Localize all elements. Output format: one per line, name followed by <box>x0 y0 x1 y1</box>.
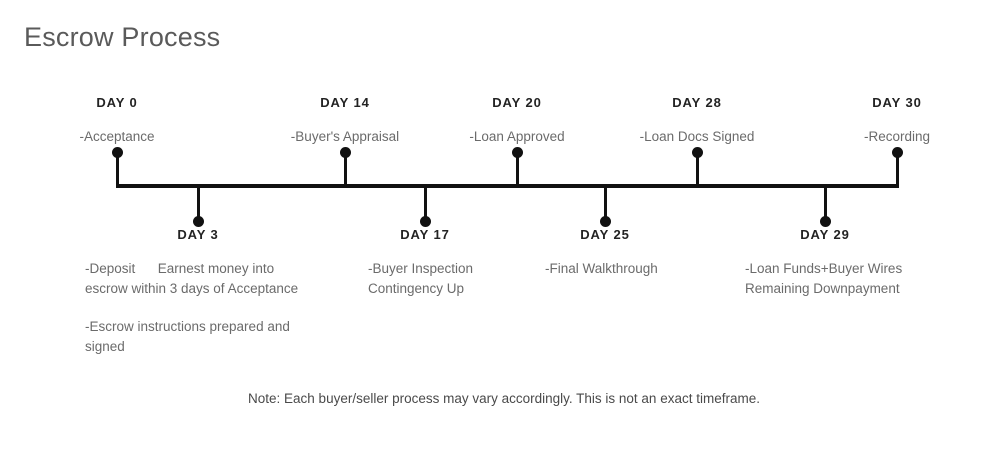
detail-day-29-line: Remaining Downpayment <box>745 279 902 299</box>
detail-day-17-line: -Buyer Inspection <box>368 259 473 279</box>
day-label-day-25: DAY 25 <box>580 227 630 242</box>
timeline-dot-day-30[interactable] <box>892 147 903 158</box>
day-label-day-14: DAY 14 <box>320 95 370 110</box>
node-description-day-0: -Acceptance <box>79 129 154 144</box>
timeline-dot-day-3[interactable] <box>193 216 204 227</box>
detail-day-3-line: signed <box>85 337 298 357</box>
detail-day-3-line: -Deposit Earnest money into <box>85 259 298 279</box>
node-description-day-30: -Recording <box>864 129 930 144</box>
footer-note: Note: Each buyer/seller process may vary… <box>0 391 1008 406</box>
detail-day-3-line: -Escrow instructions prepared and <box>85 317 298 337</box>
timeline-stem-day-29 <box>824 184 827 220</box>
detail-day-17: -Buyer InspectionContingency Up <box>368 259 473 299</box>
timeline-stem-day-3 <box>197 184 200 220</box>
day-label-day-20: DAY 20 <box>492 95 542 110</box>
timeline-stem-day-17 <box>424 184 427 220</box>
day-label-day-3: DAY 3 <box>177 227 218 242</box>
timeline-dot-day-28[interactable] <box>692 147 703 158</box>
day-label-day-29: DAY 29 <box>800 227 850 242</box>
timeline-dot-day-17[interactable] <box>420 216 431 227</box>
page-title: Escrow Process <box>24 22 220 53</box>
timeline-stem-day-25 <box>604 184 607 220</box>
day-label-day-0: DAY 0 <box>96 95 137 110</box>
detail-day-17-line: Contingency Up <box>368 279 473 299</box>
detail-day-29-line: -Loan Funds+Buyer Wires <box>745 259 902 279</box>
detail-day-29-para-1: -Loan Funds+Buyer WiresRemaining Downpay… <box>745 259 902 299</box>
timeline-axis <box>116 184 898 188</box>
timeline-dot-day-14[interactable] <box>340 147 351 158</box>
detail-day-17-para-1: -Buyer InspectionContingency Up <box>368 259 473 299</box>
detail-day-29: -Loan Funds+Buyer WiresRemaining Downpay… <box>745 259 902 299</box>
detail-day-25: -Final Walkthrough <box>545 259 658 279</box>
day-label-day-28: DAY 28 <box>672 95 722 110</box>
detail-day-25-para-1: -Final Walkthrough <box>545 259 658 279</box>
day-label-day-30: DAY 30 <box>872 95 922 110</box>
escrow-process-diagram: Escrow Process DAY 0-AcceptanceDAY 3DAY … <box>0 0 1008 452</box>
detail-day-25-line: -Final Walkthrough <box>545 259 658 279</box>
timeline-dot-day-20[interactable] <box>512 147 523 158</box>
detail-day-3-para-1: -Deposit Earnest money intoescrow within… <box>85 259 298 299</box>
day-label-day-17: DAY 17 <box>400 227 450 242</box>
node-description-day-20: -Loan Approved <box>469 129 564 144</box>
node-description-day-14: -Buyer's Appraisal <box>291 129 399 144</box>
timeline-dot-day-0[interactable] <box>112 147 123 158</box>
node-description-day-28: -Loan Docs Signed <box>640 129 755 144</box>
timeline-dot-day-29[interactable] <box>820 216 831 227</box>
timeline-dot-day-25[interactable] <box>600 216 611 227</box>
detail-day-3-para-2: -Escrow instructions prepared andsigned <box>85 317 298 357</box>
detail-day-3-line: escrow within 3 days of Acceptance <box>85 279 298 299</box>
detail-day-3: -Deposit Earnest money intoescrow within… <box>85 259 298 357</box>
